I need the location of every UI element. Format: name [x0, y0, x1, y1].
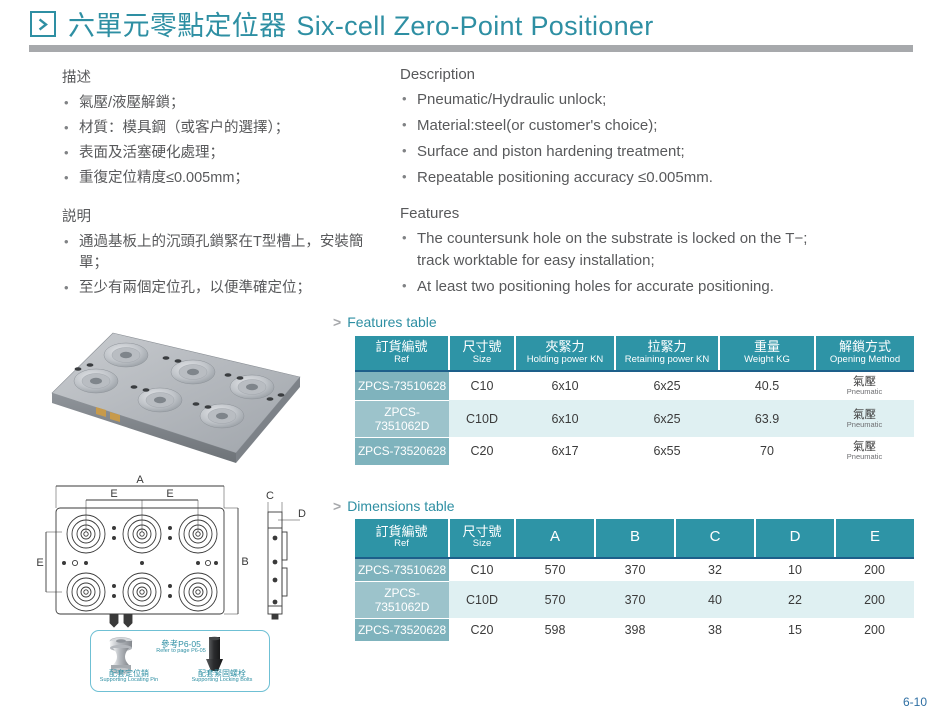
dimensions-table: 訂貨編號 Ref 尺寸號 Size A B C D E ZPCS-7351062… — [355, 519, 914, 642]
table-row: ZPCS-73510628 C10 570 370 32 10 200 — [355, 558, 914, 582]
col-b: B — [595, 519, 675, 558]
cell-b: 370 — [595, 581, 675, 618]
cell-b: 398 — [595, 618, 675, 641]
accessory-pin-en: Supporting Locating Pin — [93, 678, 165, 684]
list-item: Repeatable positioning accuracy ≤0.005mm… — [400, 167, 840, 189]
cell-retaining: 6x55 — [615, 437, 719, 465]
cell-e: 200 — [835, 581, 914, 618]
chinese-text-column: 描述 氣壓/液壓解鎖； 材質：模具鋼（或客户的選擇）； 表面及活塞硬化處理； 重… — [62, 66, 392, 315]
accessory-reference-en: Refer to page P6-05 — [150, 649, 212, 655]
cell-holding: 6x10 — [515, 400, 615, 437]
accessory-bolt-en: Supporting Locking Bolts — [180, 678, 264, 684]
cell-ref: ZPCS-73510628 — [355, 558, 449, 582]
col-ref: 訂貨編號 Ref — [355, 519, 449, 558]
cell-retaining: 6x25 — [615, 371, 719, 400]
description-cn-list: 氣壓/液壓解鎖； 材質：模具鋼（或客户的選擇）； 表面及活塞硬化處理； 重復定位… — [62, 93, 392, 189]
description-en-list: Pneumatic/Hydraulic unlock; Material:ste… — [400, 89, 840, 189]
cell-a: 570 — [515, 558, 595, 582]
cell-weight: 70 — [719, 437, 815, 465]
accessory-caption-bolt: 配套緊固螺栓 Supporting Locking Bolts — [180, 670, 264, 684]
col-c: C — [675, 519, 755, 558]
dimensions-table-heading-label: Dimensions table — [347, 498, 454, 514]
features-en-title: Features — [400, 205, 840, 222]
cell-size: C10D — [449, 581, 515, 618]
table-row: ZPCS-7351062D C10D 570 370 40 22 200 — [355, 581, 914, 618]
cell-e: 200 — [835, 558, 914, 582]
cell-size: C10D — [449, 400, 515, 437]
dim-label-a: A — [136, 474, 144, 486]
cell-a: 598 — [515, 618, 595, 641]
features-table-heading-label: Features table — [347, 314, 437, 330]
dim-label-d: D — [298, 508, 306, 520]
dimensions-table-heading: >Dimensions table — [333, 498, 455, 514]
col-e: E — [835, 519, 914, 558]
cell-ref: ZPCS-7351062D — [355, 581, 449, 618]
cell-ref: ZPCS-73520628 — [355, 618, 449, 641]
features-cn-list: 通過基板上的沉頭孔鎖緊在T型槽上，安裝簡單； 至少有兩個定位孔，以便準確定位； — [62, 232, 392, 299]
cell-c: 32 — [675, 558, 755, 582]
col-ref: 訂貨編號 Ref — [355, 336, 449, 371]
cell-size: C20 — [449, 618, 515, 641]
table-row: ZPCS-73520628 C20 598 398 38 15 200 — [355, 618, 914, 641]
page-number: 6-10 — [903, 695, 927, 709]
cell-size: C10 — [449, 371, 515, 400]
cell-holding: 6x10 — [515, 371, 615, 400]
cell-retaining: 6x25 — [615, 400, 719, 437]
list-item: 氣壓/液壓解鎖； — [62, 93, 392, 114]
dim-label-e3: E — [36, 557, 43, 569]
cell-c: 38 — [675, 618, 755, 641]
list-item: 材質：模具鋼（或客户的選擇）； — [62, 118, 392, 139]
table-header-row: 訂貨編號 Ref 尺寸號 Size 夾緊力 Holding power KN 拉… — [355, 336, 914, 371]
dim-label-c: C — [266, 490, 274, 502]
list-item: Surface and piston hardening treatment; — [400, 141, 840, 163]
col-opening-method: 解鎖方式 Opening Method — [815, 336, 914, 371]
description-en-title: Description — [400, 66, 840, 83]
heading-arrow-icon: > — [333, 314, 341, 330]
cell-ref: ZPCS-7351062D — [355, 400, 449, 437]
dim-label-e2: E — [166, 488, 173, 500]
col-holding-power: 夾緊力 Holding power KN — [515, 336, 615, 371]
cell-b: 370 — [595, 558, 675, 582]
page-header: 六單元零點定位器Six-cell Zero-Point Positioner — [0, 0, 949, 58]
english-text-column: Description Pneumatic/Hydraulic unlock; … — [400, 66, 840, 314]
list-item: 至少有兩個定位孔，以便準確定位； — [62, 278, 392, 299]
cell-size: C10 — [449, 558, 515, 582]
accessory-reference: 參考P6-05 Refer to page P6-05 — [150, 640, 212, 655]
col-size: 尺寸號 Size — [449, 519, 515, 558]
cell-opening: 氣壓 Pneumatic — [815, 400, 914, 437]
list-item: 表面及活塞硬化處理； — [62, 143, 392, 164]
list-item: At least two positioning holes for accur… — [400, 276, 840, 298]
cell-ref: ZPCS-73510628 — [355, 371, 449, 400]
cell-e: 200 — [835, 618, 914, 641]
col-d: D — [755, 519, 835, 558]
cell-weight: 63.9 — [719, 400, 815, 437]
cell-size: C20 — [449, 437, 515, 465]
list-item: Pneumatic/Hydraulic unlock; — [400, 89, 840, 111]
list-item: 重復定位精度≤0.005mm； — [62, 168, 392, 189]
header-divider — [29, 45, 913, 52]
dim-label-e1: E — [110, 488, 117, 500]
description-cn-title: 描述 — [62, 66, 392, 87]
list-item: Material:steel(or customer's choice); — [400, 115, 840, 137]
page-title: 六單元零點定位器Six-cell Zero-Point Positioner — [68, 4, 654, 43]
list-item: 通過基板上的沉頭孔鎖緊在T型槽上，安裝簡單； — [62, 232, 392, 274]
cell-ref: ZPCS-73520628 — [355, 437, 449, 465]
cell-a: 570 — [515, 581, 595, 618]
col-weight: 重量 Weight KG — [719, 336, 815, 371]
col-retaining-power: 拉緊力 Retaining power KN — [615, 336, 719, 371]
col-size: 尺寸號 Size — [449, 336, 515, 371]
cell-d: 10 — [755, 558, 835, 582]
features-en-list: The countersunk hole on the substrate is… — [400, 228, 840, 298]
cell-holding: 6x17 — [515, 437, 615, 465]
heading-arrow-icon: > — [333, 498, 341, 514]
features-cn-title: 説明 — [62, 205, 392, 226]
table-row: ZPCS-73510628 C10 6x10 6x25 40.5 氣壓 Pneu… — [355, 371, 914, 400]
list-item: The countersunk hole on the substrate is… — [400, 228, 840, 272]
technical-drawing: A E E E B C D — [34, 472, 314, 632]
chevron-right-icon — [30, 11, 56, 37]
table-row: ZPCS-73520628 C20 6x17 6x55 70 氣壓 Pneuma… — [355, 437, 914, 465]
cell-d: 15 — [755, 618, 835, 641]
accessory-caption-pin: 配套定位銷 Supporting Locating Pin — [93, 670, 165, 684]
features-table-heading: >Features table — [333, 314, 437, 330]
table-header-row: 訂貨編號 Ref 尺寸號 Size A B C D E — [355, 519, 914, 558]
cell-c: 40 — [675, 581, 755, 618]
cell-opening: 氣壓 Pneumatic — [815, 437, 914, 465]
product-render — [38, 325, 313, 470]
features-table: 訂貨編號 Ref 尺寸號 Size 夾緊力 Holding power KN 拉… — [355, 336, 914, 466]
cell-opening: 氣壓 Pneumatic — [815, 371, 914, 400]
dim-label-b: B — [241, 556, 248, 568]
col-a: A — [515, 519, 595, 558]
table-row: ZPCS-7351062D C10D 6x10 6x25 63.9 氣壓 Pne… — [355, 400, 914, 437]
cell-d: 22 — [755, 581, 835, 618]
page-title-en: Six-cell Zero-Point Positioner — [296, 11, 653, 41]
page-title-cn: 六單元零點定位器 — [68, 11, 286, 41]
cell-weight: 40.5 — [719, 371, 815, 400]
